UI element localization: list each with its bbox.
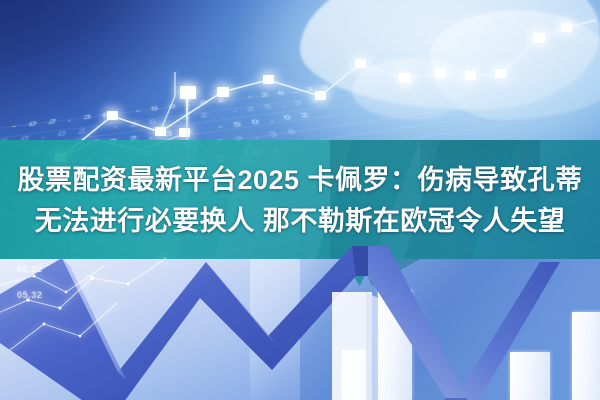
headline-line-1: 股票配资最新平台2025 卡佩罗：伤病导致孔蒂 xyxy=(0,160,600,201)
mini-readout: 02.32 xyxy=(17,264,43,274)
mini-readout: 05.32 xyxy=(17,290,43,300)
headline-line-2: 无法进行必要换人 那不勒斯在欧冠令人失望 xyxy=(0,201,600,242)
banner-image: -45.02 -02.36 -50.02 -26.32 -02.36 -50.0… xyxy=(0,0,600,400)
headline: 股票配资最新平台2025 卡佩罗：伤病导致孔蒂 无法进行必要换人 那不勒斯在欧冠… xyxy=(0,160,600,242)
